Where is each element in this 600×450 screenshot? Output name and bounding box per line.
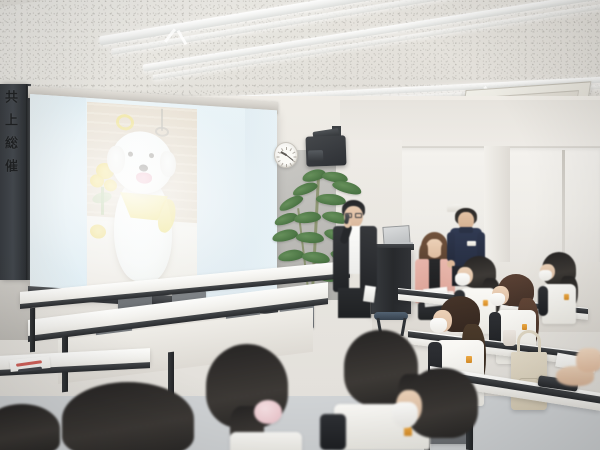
clock-tick bbox=[293, 152, 296, 154]
student-forearm bbox=[576, 348, 600, 372]
clock-face bbox=[278, 146, 295, 165]
presenter-handout bbox=[363, 285, 376, 302]
banner-text: 共上総催 bbox=[1, 90, 25, 182]
clock-tick bbox=[277, 157, 280, 158]
plant-leaf bbox=[271, 227, 299, 243]
plant-leaf bbox=[277, 193, 305, 214]
uniform-emblem-badge bbox=[466, 356, 472, 363]
uniform-emblem-badge bbox=[564, 294, 569, 300]
blind-seam bbox=[562, 150, 565, 266]
student-foreground-masked bbox=[392, 368, 488, 450]
face-mask bbox=[455, 273, 470, 286]
presenter-blazer-right bbox=[360, 226, 377, 294]
desk-leg bbox=[30, 308, 35, 352]
student-foreground-far-left bbox=[0, 404, 70, 450]
clock-tick bbox=[281, 163, 283, 166]
polo-collar bbox=[459, 227, 473, 233]
male-presenter bbox=[333, 200, 377, 318]
student-foreground-scrunchie bbox=[196, 344, 326, 450]
name-badge bbox=[467, 241, 476, 246]
plant-leaf bbox=[296, 231, 325, 244]
student-uniform-sleeve bbox=[320, 414, 346, 450]
clock-tick bbox=[286, 165, 287, 168]
clock-tick bbox=[290, 163, 292, 166]
classroom-photo-scene: 共上総催 bbox=[0, 0, 600, 450]
clock-tick bbox=[278, 160, 281, 162]
wall-column bbox=[484, 146, 510, 274]
ceiling-projector bbox=[305, 135, 346, 166]
student-hand-foreground bbox=[556, 348, 600, 404]
student-foreground-left bbox=[62, 382, 202, 450]
student-uniform-vest bbox=[230, 432, 302, 450]
clock-tick bbox=[293, 160, 296, 162]
vertical-japanese-banner: 共上総催 bbox=[0, 84, 26, 280]
av-podium-cart bbox=[371, 248, 411, 314]
face-mask bbox=[392, 402, 418, 428]
glasses-icon bbox=[355, 213, 362, 218]
wall-clock bbox=[274, 142, 298, 168]
projector-lens bbox=[308, 150, 323, 162]
clock-tick bbox=[294, 157, 297, 158]
uniform-emblem-badge bbox=[522, 324, 527, 330]
paper-cup bbox=[503, 330, 516, 346]
clock-tick bbox=[281, 148, 283, 151]
plant-leaf bbox=[277, 248, 304, 263]
student-hair bbox=[62, 382, 194, 450]
clock-tick bbox=[286, 147, 287, 150]
student-hair bbox=[0, 404, 60, 450]
clock-tick bbox=[290, 148, 292, 151]
pink-scrunchie bbox=[254, 400, 282, 424]
